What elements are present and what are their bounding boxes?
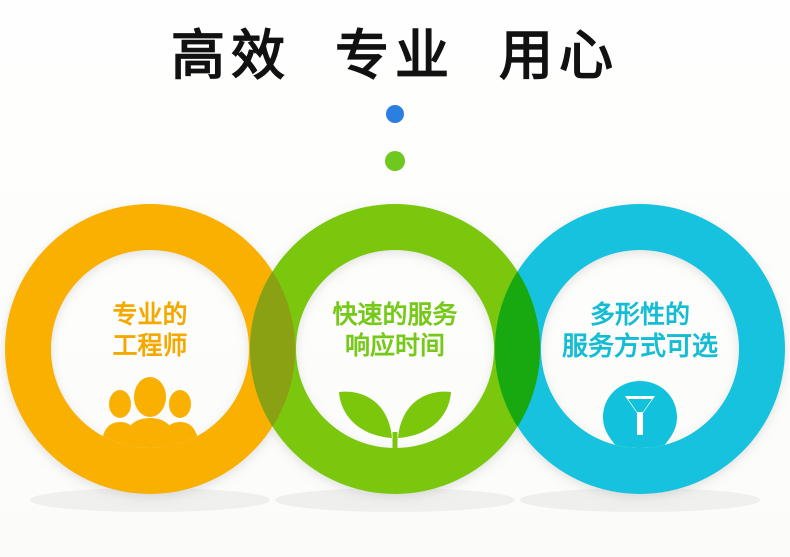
- overlap-green-cyan-b: [0, 0, 790, 557]
- circle-label-response-time-line1: 快速的服务: [285, 300, 505, 331]
- circle-label-service-modes: 多形性的 服务方式可选: [520, 300, 760, 362]
- circle-label-service-modes-line1: 多形性的: [520, 300, 760, 331]
- circle-label-service-modes-line2: 服务方式可选: [520, 331, 760, 363]
- circle-label-engineers-line1: 专业的: [40, 300, 260, 331]
- infographic-canvas: 高效专业用心: [0, 0, 790, 557]
- circle-label-response-time: 快速的服务 响应时间: [285, 300, 505, 361]
- circle-label-response-time-line2: 响应时间: [285, 331, 505, 362]
- venn-diagram: [0, 0, 790, 557]
- circle-label-engineers: 专业的 工程师: [40, 300, 260, 361]
- circle-label-engineers-line2: 工程师: [40, 331, 260, 362]
